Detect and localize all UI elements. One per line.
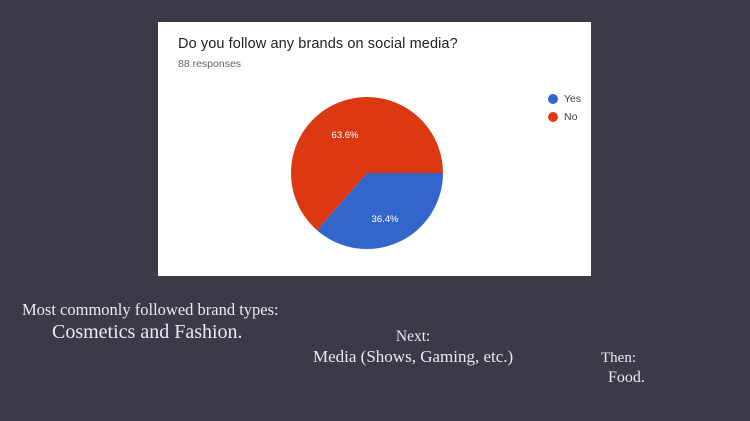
legend-item-yes[interactable]: Yes <box>548 92 581 105</box>
presentation-slide: Do you follow any brands on social media… <box>0 0 750 421</box>
chart-card: Do you follow any brands on social media… <box>158 22 591 276</box>
text-block-then: Then: Food. <box>601 350 645 388</box>
brand-types-value: Cosmetics and Fashion. <box>52 321 279 345</box>
pie-label-yes: 36.4% <box>372 214 399 225</box>
legend-label-yes: Yes <box>564 93 581 105</box>
then-value: Food. <box>608 369 645 388</box>
text-block-brand-types: Most commonly followed brand types: Cosm… <box>22 300 279 345</box>
legend-swatch-yes-icon <box>548 94 558 104</box>
legend-item-no[interactable]: No <box>548 110 581 123</box>
pie-chart: 63.6% 36.4% <box>290 96 444 250</box>
chart-legend: Yes No <box>548 92 581 123</box>
legend-swatch-no-icon <box>548 112 558 122</box>
then-heading: Then: <box>601 350 645 368</box>
text-block-next: Next: Media (Shows, Gaming, etc.) <box>313 328 513 367</box>
pie-chart-svg: 63.6% 36.4% <box>290 96 444 250</box>
pie-label-no: 63.6% <box>332 130 359 141</box>
brand-types-heading: Most commonly followed brand types: <box>22 300 279 319</box>
chart-title: Do you follow any brands on social media… <box>178 36 458 52</box>
legend-label-no: No <box>564 111 577 123</box>
next-heading: Next: <box>313 328 513 346</box>
next-value: Media (Shows, Gaming, etc.) <box>313 347 513 367</box>
chart-response-count: 88 responses <box>178 58 241 70</box>
